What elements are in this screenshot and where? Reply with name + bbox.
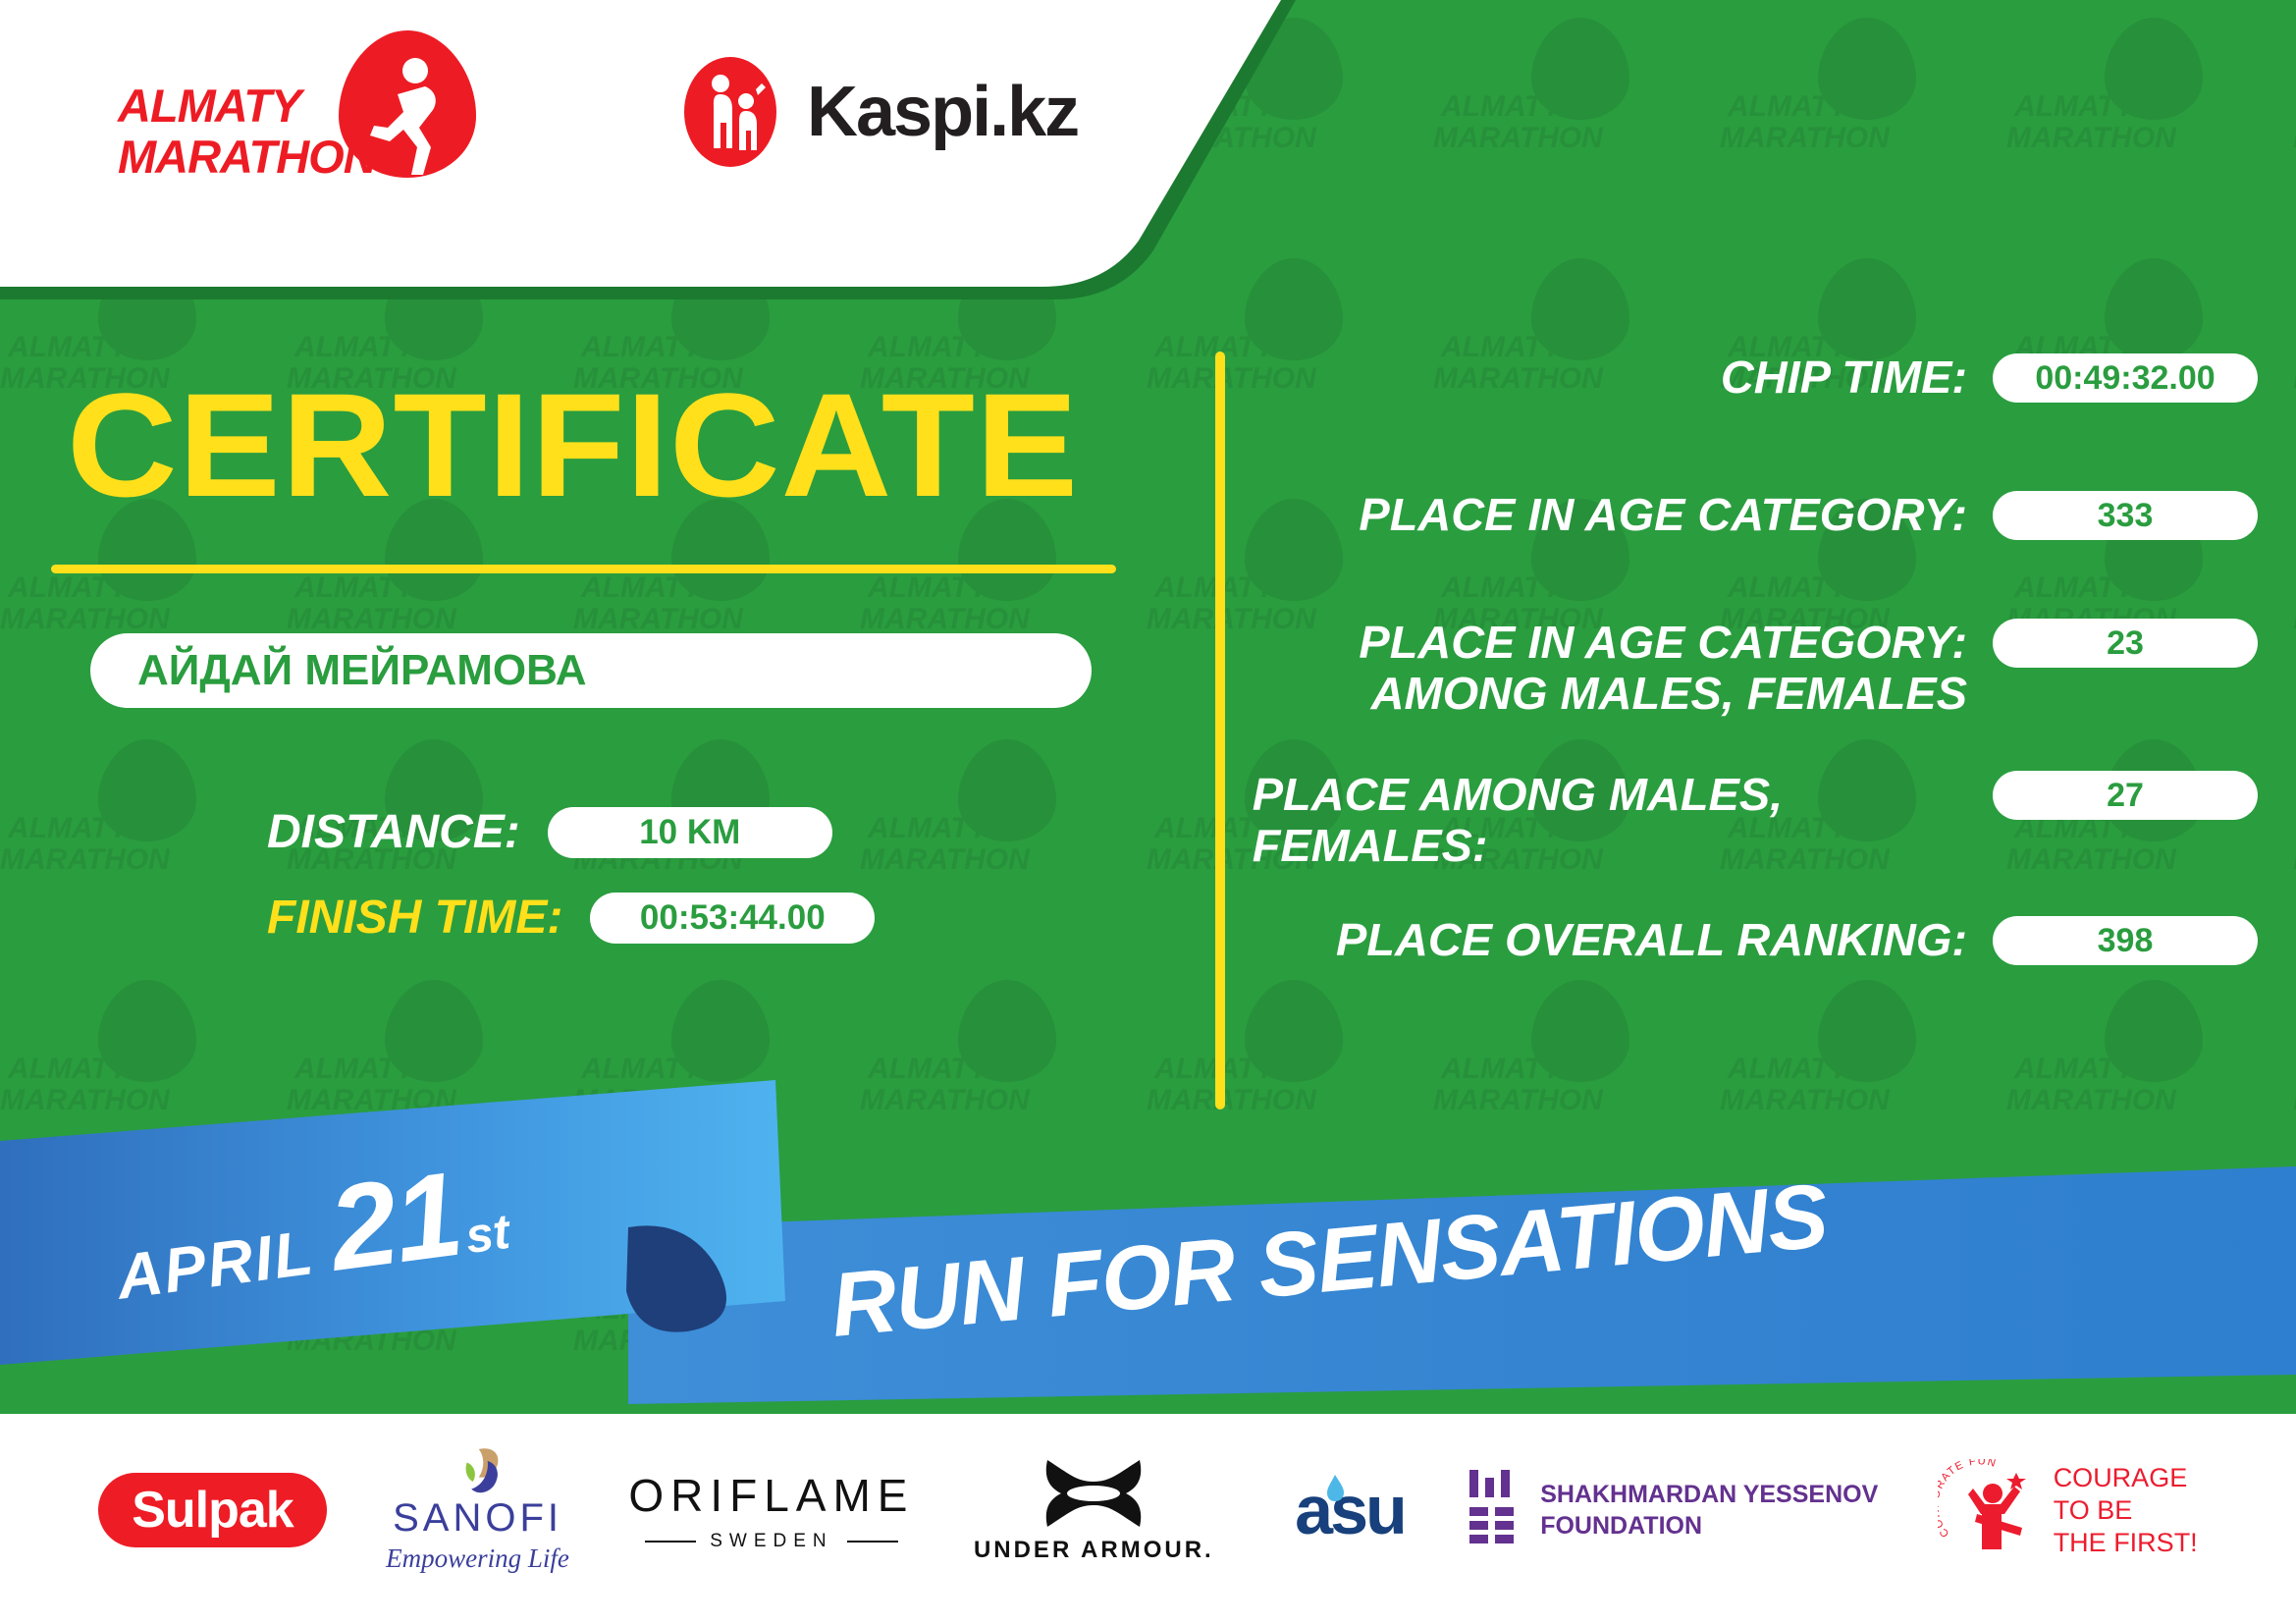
sulpak-logo: Sulpak (98, 1473, 327, 1547)
athlete-name-field: АЙДАЙ МЕЙРАМОВА (90, 633, 1092, 708)
place-overall-ranking-value: 398 (1993, 916, 2258, 965)
finish-time-value: 00:53:44.00 (590, 893, 875, 944)
place-in-age-category-label: PLACE IN AGE CATEGORY: (1253, 489, 1967, 540)
finish-time-label: FINISH TIME: (267, 891, 562, 945)
sponsor-yessenov-foundation: SHAKHMARDAN YESSENOV FOUNDATION (1464, 1446, 1878, 1574)
asu-droplet-icon (1324, 1475, 1346, 1502)
courage-fund-figure-icon: CORPORATE FUND (1938, 1459, 2040, 1561)
asu-wordmark: asu (1295, 1471, 1405, 1549)
oriflame-rule-left-icon (645, 1541, 696, 1543)
marathon-logo-line1: ALMATY (118, 81, 368, 132)
vertical-yellow-divider (1215, 352, 1225, 1110)
yessenov-name-line2: FOUNDATION (1540, 1510, 1878, 1542)
kaspi-logo: Kaspi.kz (677, 54, 1078, 170)
courage-line3: THE FIRST! (2054, 1527, 2198, 1559)
place-overall-ranking-row: PLACE OVERALL RANKING: 398 (1266, 914, 2258, 965)
place-among-males-females-label-line2: FEMALES: (1253, 820, 1967, 871)
header-logos: ALMATY MARATHON Kaspi.kz (0, 0, 1178, 255)
courage-line2: TO BE (2054, 1494, 2198, 1527)
sponsor-strip: Sulpak SANOFI Empowering Life ORIFLAME S… (0, 1422, 2296, 1598)
sponsor-under-armour: UNDER ARMOUR. (974, 1446, 1214, 1574)
place-among-males-females-label-line1: PLACE AMONG MALES, (1253, 769, 1967, 820)
sanofi-wordmark: SANOFI (393, 1496, 562, 1541)
distance-row: DISTANCE: 10 KM (267, 805, 832, 859)
sanofi-mark-icon (436, 1446, 520, 1496)
under-armour-mark-icon (1030, 1456, 1157, 1531)
place-in-age-category-among-row: PLACE IN AGE CATEGORY: AMONG MALES, FEMA… (1266, 617, 2258, 719)
courage-wordmark: COURAGE TO BE THE FIRST! (2054, 1462, 2198, 1559)
kaspi-wordmark: Kaspi.kz (807, 72, 1078, 152)
almaty-marathon-wordmark: ALMATY MARATHON (118, 81, 368, 183)
sponsor-sulpak: Sulpak (98, 1446, 327, 1574)
oriflame-rule-right-icon (847, 1541, 898, 1543)
place-in-age-category-among-label-line1: PLACE IN AGE CATEGORY: (1253, 617, 1967, 668)
courage-line1: COURAGE (2054, 1462, 2198, 1494)
yessenov-name-line1: SHAKHMARDAN YESSENOV (1540, 1479, 1878, 1510)
sponsor-sanofi: SANOFI Empowering Life (386, 1446, 569, 1574)
place-overall-ranking-label: PLACE OVERALL RANKING: (1253, 914, 1967, 965)
yessenov-bars-icon (1464, 1468, 1519, 1552)
sponsor-asu: asu (1273, 1446, 1405, 1574)
oriflame-wordmark: ORIFLAME (628, 1469, 914, 1522)
marathon-logo-line2: MARATHON (118, 132, 368, 183)
chip-time-value: 00:49:32.00 (1993, 353, 2258, 403)
kaspi-people-circle-icon (677, 54, 783, 170)
sponsor-oriflame: ORIFLAME SWEDEN (628, 1446, 914, 1574)
sponsor-courage-to-be-the-first: CORPORATE FUND COURAGE TO BE THE FIRST! (1938, 1446, 2198, 1574)
place-in-age-category-value: 333 (1993, 491, 2258, 540)
place-in-age-category-among-label-line2: AMONG MALES, FEMALES (1253, 668, 1967, 719)
yessenov-wordmark: SHAKHMARDAN YESSENOV FOUNDATION (1540, 1479, 1878, 1542)
place-in-age-category-row: PLACE IN AGE CATEGORY: 333 (1266, 489, 2258, 540)
finish-time-row: FINISH TIME: 00:53:44.00 (267, 891, 875, 945)
ribbon-ordinal-suffix: st (462, 1203, 513, 1265)
ribbon-month: APRIL (113, 1216, 319, 1314)
place-among-males-females-row: PLACE AMONG MALES, FEMALES: 27 (1266, 769, 2258, 871)
chip-time-row: CHIP TIME: 00:49:32.00 (1266, 352, 2258, 403)
distance-label: DISTANCE: (267, 805, 520, 859)
place-in-age-category-among-label: PLACE IN AGE CATEGORY: AMONG MALES, FEMA… (1253, 617, 1967, 719)
almaty-marathon-logo: ALMATY MARATHON (118, 37, 442, 194)
place-in-age-category-among-value: 23 (1993, 619, 2258, 668)
certificate-page: ALMATY MARATHON Kaspi.kz CERTIFICATE АЙД… (0, 0, 2296, 1624)
athlete-name-value: АЙДАЙ МЕЙРАМОВА (137, 646, 587, 695)
oriflame-subtitle: SWEDEN (710, 1531, 832, 1552)
place-among-males-females-value: 27 (1993, 771, 2258, 820)
distance-value: 10 KM (548, 807, 832, 858)
sanofi-tagline: Empowering Life (386, 1543, 569, 1574)
chip-time-label: CHIP TIME: (1253, 352, 1967, 403)
oriflame-subtitle-row: SWEDEN (645, 1531, 897, 1552)
title-underline-rule (51, 565, 1116, 573)
under-armour-wordmark: UNDER ARMOUR. (974, 1537, 1214, 1564)
ribbon-day: 21 (322, 1145, 468, 1298)
place-among-males-females-label: PLACE AMONG MALES, FEMALES: (1253, 769, 1967, 871)
left-column: CERTIFICATE АЙДАЙ МЕЙРАМОВА DISTANCE: 10… (0, 324, 1168, 1129)
certificate-title: CERTIFICATE (67, 371, 1159, 518)
